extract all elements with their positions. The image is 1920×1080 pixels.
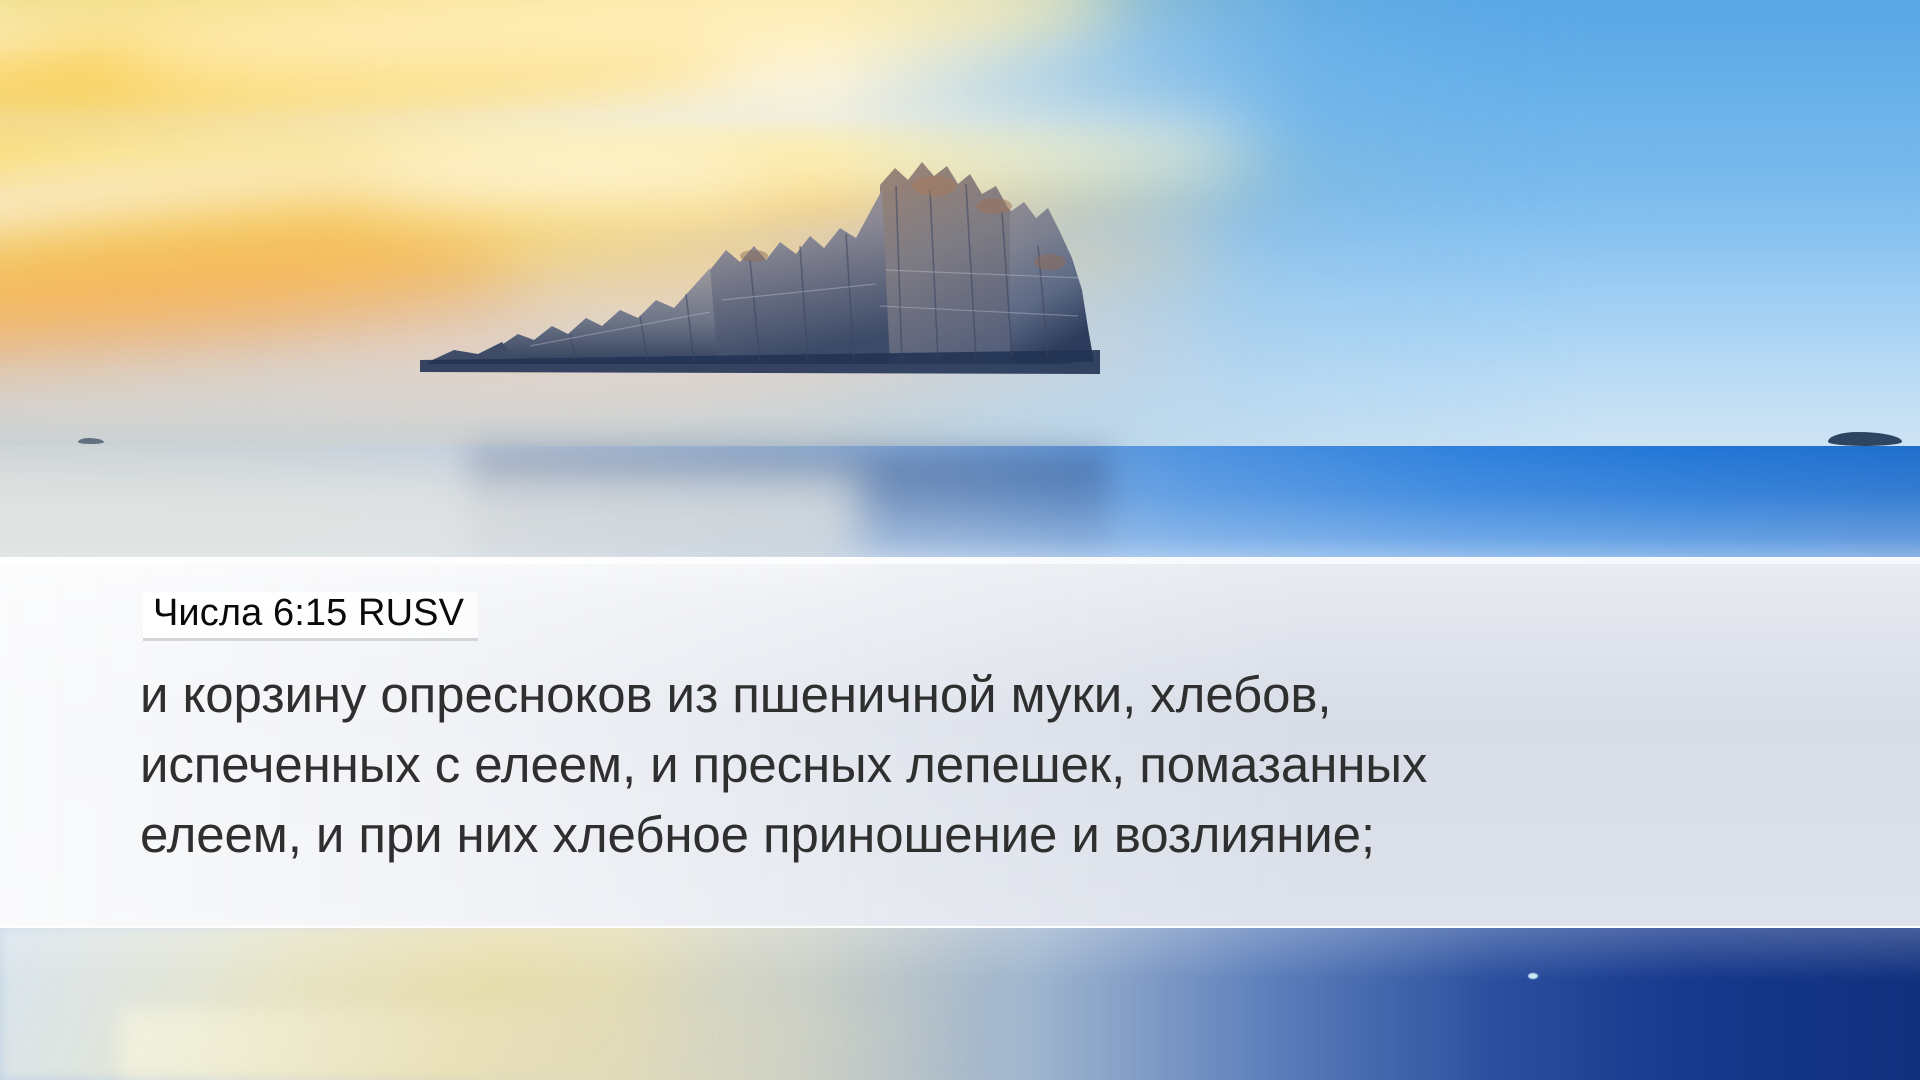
- distant-islet-icon: [78, 438, 104, 444]
- sea-sheen-icon: [0, 470, 860, 562]
- verse-line: елеем, и при них хлебное приношение и во…: [140, 800, 1820, 870]
- verse-line: испеченных с елеем, и пресных лепешек, п…: [140, 730, 1820, 800]
- verse-reference-box: Числа 6:15 RUSV: [143, 592, 478, 641]
- rock-midsection: [710, 190, 890, 364]
- verse-line: и корзину опресноков из пшеничной муки, …: [140, 660, 1820, 730]
- rock-island-shape: [410, 150, 1100, 400]
- rock-right-spur: [1010, 202, 1094, 362]
- sea-reflection-icon: [120, 1010, 980, 1080]
- verse-body: и корзину опресноков из пшеничной муки, …: [140, 660, 1820, 870]
- rock-island-icon: [410, 150, 1100, 400]
- verse-reference: Числа 6:15 RUSV: [153, 594, 464, 634]
- verse-slide: Числа 6:15 RUSV и корзину опресноков из …: [0, 0, 1920, 1080]
- water-sparkle-icon: [1528, 973, 1538, 979]
- rock-ridge: [500, 268, 718, 364]
